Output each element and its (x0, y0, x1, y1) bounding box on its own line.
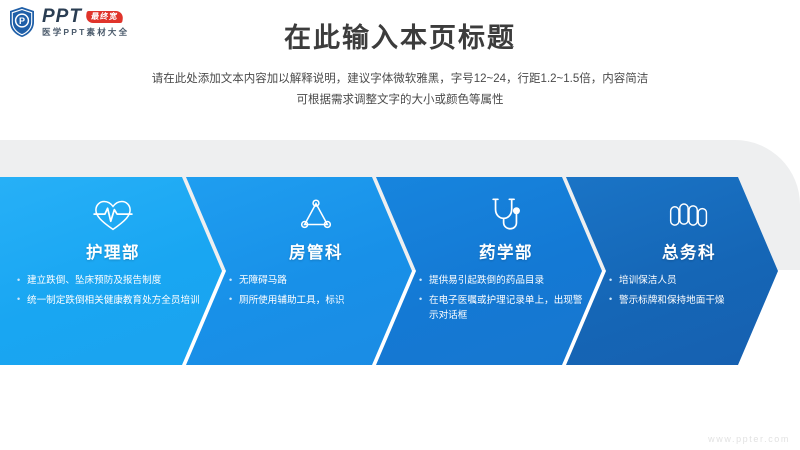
list-item: 提供易引起跌倒的药品目录 (418, 274, 586, 289)
pills-icon (667, 195, 711, 235)
chevron-title-3: 药学部 (479, 239, 533, 263)
chevron-bullets-4: 培训保洁人员 警示标牌和保持地面干燥 (600, 274, 778, 314)
subtitle-line-2: 可根据需求调整文字的大小或颜色等属性 (0, 90, 800, 111)
list-item: 统一制定跌倒相关健康教育处方全员培训 (16, 294, 212, 309)
header: 在此输入本页标题 请在此处添加文本内容加以解释说明，建议字体微软雅黑，字号12~… (0, 0, 800, 112)
list-item: 警示标牌和保持地面干燥 (608, 294, 762, 309)
list-item: 建立跌倒、坠床预防及报告制度 (16, 274, 212, 289)
chevron-bullets-2: 无障碍马路 厕所使用辅助工具，标识 (220, 274, 412, 314)
chevron-bullets-3: 提供易引起跌倒的药品目录 在电子医嘱或护理记录单上，出现警示对话框 (410, 274, 602, 329)
list-item: 在电子医嘱或护理记录单上，出现警示对话框 (418, 294, 586, 324)
list-item: 无障碍马路 (228, 274, 396, 289)
chevron-title-1: 护理部 (86, 239, 140, 263)
chevron-title-2: 房管科 (289, 239, 343, 263)
chevron-title-4: 总务科 (662, 239, 716, 263)
subtitle-block: 请在此处添加文本内容加以解释说明，建议字体微软雅黑，字号12~24，行距1.2~… (0, 69, 800, 112)
slide-canvas: P PPT 最终宽 医学PPT素材大全 在此输入本页标题 请在此处添加文本内容加… (0, 0, 800, 450)
list-item: 培训保洁人员 (608, 274, 762, 289)
heart-pulse-icon (92, 195, 134, 235)
chevron-bullets-1: 建立跌倒、坠床预防及报告制度 统一制定跌倒相关健康教育处方全员培训 (4, 274, 222, 314)
triangle-network-icon (296, 195, 336, 235)
stethoscope-icon (487, 195, 525, 235)
chevron-panel-1[interactable]: 护理部 建立跌倒、坠床预防及报告制度 统一制定跌倒相关健康教育处方全员培训 (0, 177, 222, 365)
list-item: 厕所使用辅助工具，标识 (228, 294, 396, 309)
process-chevron-strip: 护理部 建立跌倒、坠床预防及报告制度 统一制定跌倒相关健康教育处方全员培训 (0, 177, 800, 365)
page-title: 在此输入本页标题 (0, 16, 800, 55)
watermark: www.ppter.com (708, 434, 790, 444)
subtitle-line-1: 请在此处添加文本内容加以解释说明，建议字体微软雅黑，字号12~24，行距1.2~… (0, 69, 800, 90)
